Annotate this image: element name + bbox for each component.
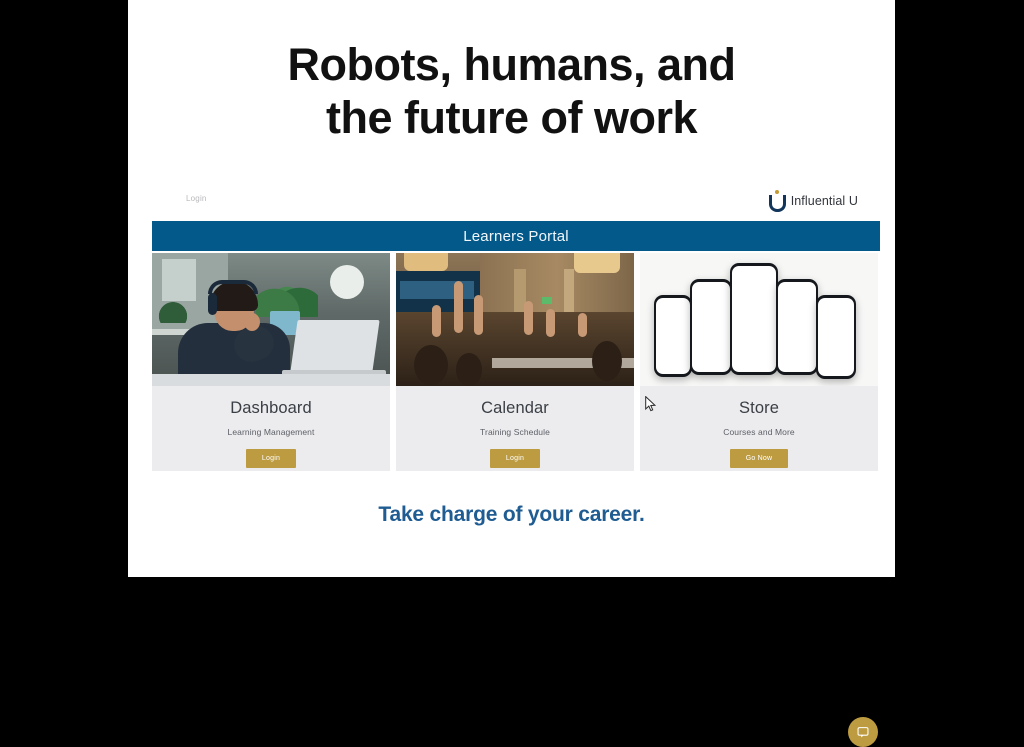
- headphones-icon: [208, 280, 258, 294]
- image-ceiling-lamp-right: [574, 253, 620, 273]
- phone-mockup: [816, 295, 856, 379]
- store-card-image: [640, 253, 878, 386]
- image-desk: [152, 374, 390, 386]
- brand-logo[interactable]: Influential U: [769, 190, 858, 212]
- image-audience-head: [592, 341, 622, 381]
- phone-screen: [732, 266, 776, 372]
- page-title: Robots, humans, and the future of work: [128, 38, 895, 144]
- phone-mockup: [690, 279, 732, 375]
- image-person-hand: [244, 313, 260, 331]
- phone-mockup: [776, 279, 818, 375]
- phone-mockup: [654, 295, 692, 377]
- store-go-now-button[interactable]: Go Now: [730, 449, 789, 468]
- calendar-card-image: [396, 253, 634, 386]
- learners-portal-banner: Learners Portal: [152, 221, 880, 251]
- dashboard-card-subtitle: Learning Management: [228, 427, 315, 437]
- phone-screen: [818, 298, 854, 376]
- store-card-subtitle: Courses and More: [723, 427, 795, 437]
- image-audience-head: [414, 345, 448, 385]
- headline-line-1: Robots, humans, and: [287, 39, 735, 90]
- portal-card-dashboard[interactable]: Dashboard Learning Management Login: [152, 253, 390, 471]
- image-raised-hand: [546, 309, 555, 337]
- brand-logo-text: Influential U: [791, 194, 858, 208]
- image-raised-hand: [432, 305, 441, 337]
- dashboard-card-image: [152, 253, 390, 386]
- image-exit-sign: [542, 297, 552, 304]
- image-raised-hand: [474, 295, 483, 335]
- image-laptop-screen: [290, 320, 379, 372]
- calendar-login-button[interactable]: Login: [490, 449, 540, 468]
- banner-title: Learners Portal: [463, 228, 569, 245]
- screen: Robots, humans, and the future of work L…: [0, 0, 1024, 577]
- image-ceiling-lamp-left: [404, 253, 448, 271]
- portal-card-store[interactable]: Store Courses and More Go Now: [640, 253, 878, 471]
- calendar-card-subtitle: Training Schedule: [480, 427, 550, 437]
- portal-card-row: Dashboard Learning Management Login: [152, 253, 880, 471]
- phone-screen: [778, 282, 816, 372]
- logo-u-shape-icon: [769, 195, 786, 212]
- dashboard-card-title: Dashboard: [230, 399, 312, 418]
- phone-mockup: [730, 263, 778, 375]
- image-raised-hand: [454, 281, 463, 333]
- image-raised-hand: [524, 301, 533, 335]
- site-header: Login Influential U: [152, 185, 880, 221]
- headline-line-2: the future of work: [128, 91, 895, 144]
- store-card-title: Store: [739, 399, 779, 418]
- phone-screen: [656, 298, 690, 374]
- embedded-website-screenshot: Login Influential U Learners Portal: [152, 185, 880, 555]
- chat-widget-button[interactable]: [848, 717, 878, 747]
- calendar-card-body: Calendar Training Schedule Login: [396, 386, 634, 471]
- store-card-body: Store Courses and More Go Now: [640, 386, 878, 471]
- influential-u-icon: [769, 190, 786, 212]
- presentation-slide: Robots, humans, and the future of work L…: [128, 0, 895, 577]
- image-plant-small: [158, 289, 188, 323]
- dashboard-card-body: Dashboard Learning Management Login: [152, 386, 390, 471]
- portal-card-calendar[interactable]: Calendar Training Schedule Login: [396, 253, 634, 471]
- dashboard-login-button[interactable]: Login: [246, 449, 296, 468]
- chat-bubble-icon: [856, 725, 870, 739]
- image-audience-head: [456, 353, 482, 386]
- headphone-earcup-icon: [208, 293, 217, 315]
- image-raised-hand: [578, 313, 587, 337]
- image-lamp: [330, 265, 364, 299]
- logo-dot-icon: [775, 190, 779, 194]
- calendar-card-title: Calendar: [481, 399, 549, 418]
- phone-screen: [692, 282, 730, 372]
- tagline: Take charge of your career.: [128, 503, 895, 527]
- header-login-link[interactable]: Login: [186, 194, 207, 203]
